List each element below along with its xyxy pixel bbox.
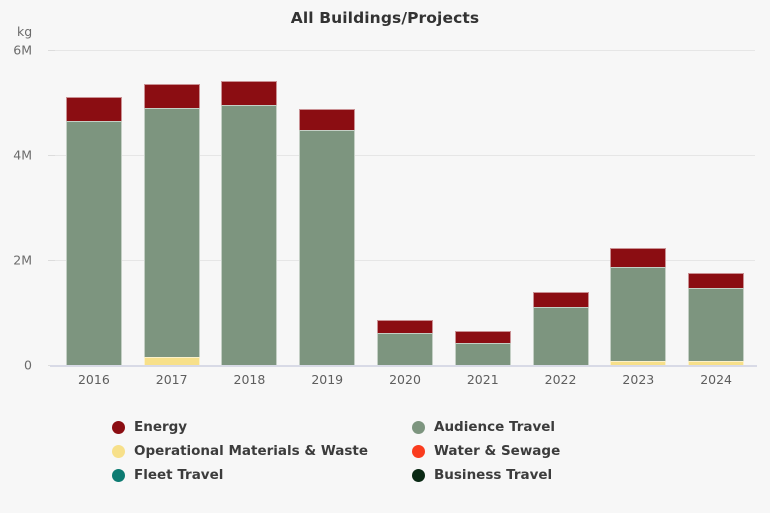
legend-item[interactable]: Operational Materials & Waste <box>112 439 412 463</box>
y-axis-tick-mark <box>48 50 55 51</box>
legend-label: Water & Sewage <box>434 443 560 459</box>
bar-segment[interactable] <box>66 121 122 365</box>
legend-swatch-circle-icon <box>112 445 125 458</box>
bar-group[interactable]: 2017 <box>144 50 200 365</box>
bar-segment[interactable] <box>533 292 589 307</box>
bar-segment[interactable] <box>688 288 744 360</box>
bar-segment[interactable] <box>533 307 589 365</box>
bar-segment[interactable] <box>610 267 666 360</box>
legend-label: Energy <box>134 419 187 435</box>
bar-group[interactable]: 2021 <box>455 50 511 365</box>
x-axis-tick-label: 2023 <box>610 372 666 387</box>
bar-segment[interactable] <box>377 320 433 333</box>
bar-group[interactable]: 2020 <box>377 50 433 365</box>
legend-swatch-circle-icon <box>112 421 125 434</box>
bar-segment[interactable] <box>610 248 666 267</box>
bar-segment[interactable] <box>144 84 200 109</box>
bar-segment[interactable] <box>299 130 355 365</box>
x-axis-tick-label: 2022 <box>533 372 589 387</box>
legend-swatch-circle-icon <box>112 469 125 482</box>
legend-swatch-circle-icon <box>412 445 425 458</box>
legend-swatch-circle-icon <box>412 469 425 482</box>
legend-label: Business Travel <box>434 467 552 483</box>
bar-segment[interactable] <box>144 357 200 365</box>
bar-group[interactable]: 2018 <box>221 50 277 365</box>
plot-area: 02M4M6M 20162017201820192020202120222023… <box>55 50 755 365</box>
legend-item[interactable]: Business Travel <box>412 463 712 487</box>
x-axis-tick-label: 2021 <box>455 372 511 387</box>
legend-swatch-circle-icon <box>412 421 425 434</box>
bar-group[interactable]: 2024 <box>688 50 744 365</box>
bar-segment[interactable] <box>455 331 511 344</box>
bar-group[interactable]: 2016 <box>66 50 122 365</box>
y-axis-tick-mark <box>48 260 55 261</box>
bar-segment[interactable] <box>688 273 744 288</box>
x-axis-tick-label: 2024 <box>688 372 744 387</box>
x-axis-tick-label: 2018 <box>221 372 277 387</box>
bar-segment[interactable] <box>221 81 277 105</box>
legend-item[interactable]: Water & Sewage <box>412 439 712 463</box>
y-axis-tick-label: 0 <box>0 358 32 373</box>
y-axis-tick-mark <box>48 155 55 156</box>
x-axis-tick-label: 2017 <box>144 372 200 387</box>
bar-group[interactable]: 2019 <box>299 50 355 365</box>
legend-label: Fleet Travel <box>134 467 223 483</box>
chart-container: All Buildings/Projects kg 02M4M6M 201620… <box>0 0 770 513</box>
bar-segment[interactable] <box>455 343 511 365</box>
x-axis-tick-label: 2019 <box>299 372 355 387</box>
y-axis-tick-label: 2M <box>0 253 32 268</box>
y-axis-unit-label: kg <box>17 24 32 39</box>
bar-segment[interactable] <box>66 97 122 121</box>
legend-label: Operational Materials & Waste <box>134 443 368 459</box>
legend-item[interactable]: Audience Travel <box>412 415 712 439</box>
legend-item[interactable]: Fleet Travel <box>112 463 412 487</box>
legend-item[interactable]: Energy <box>112 415 412 439</box>
y-axis-tick-label: 6M <box>0 43 32 58</box>
legend-label: Audience Travel <box>434 419 555 435</box>
bar-group[interactable]: 2022 <box>533 50 589 365</box>
chart-legend: EnergyOperational Materials & WasteFleet… <box>112 415 712 487</box>
bar-group[interactable]: 2023 <box>610 50 666 365</box>
x-axis-tick-label: 2020 <box>377 372 433 387</box>
bar-segment[interactable] <box>221 105 277 365</box>
y-axis-tick-label: 4M <box>0 148 32 163</box>
x-axis-tick-label: 2016 <box>66 372 122 387</box>
x-axis-baseline <box>50 365 757 367</box>
bar-segment[interactable] <box>144 108 200 357</box>
chart-title: All Buildings/Projects <box>0 9 770 27</box>
bar-segment[interactable] <box>299 109 355 130</box>
bar-segment[interactable] <box>377 333 433 365</box>
